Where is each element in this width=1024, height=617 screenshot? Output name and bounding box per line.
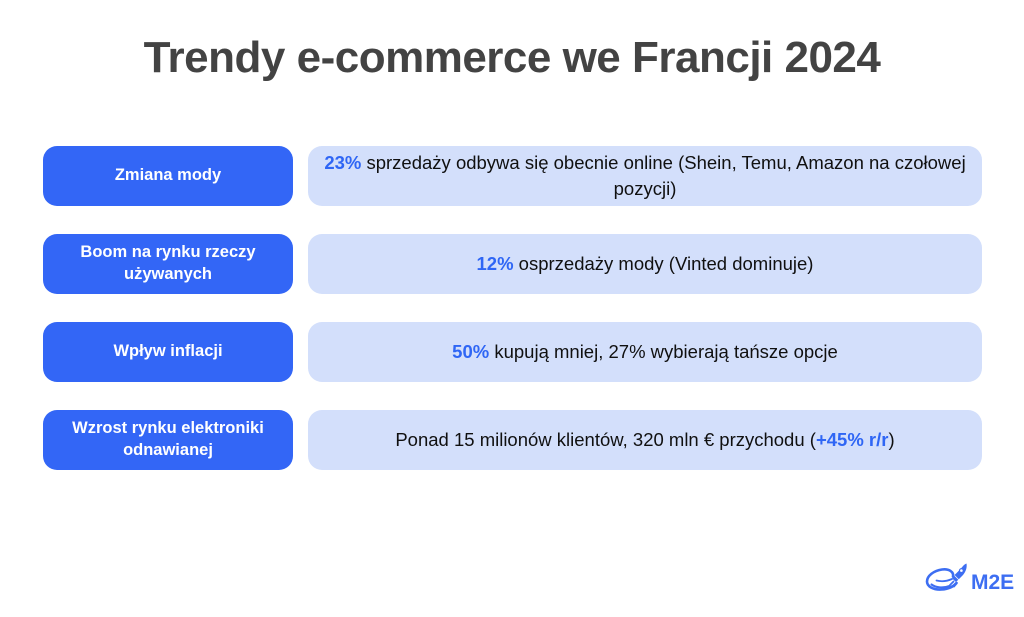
row-description-boom-rzeczy-uzywane: 12% osprzedaży mody (Vinted dominuje) [308, 234, 982, 294]
row-description-zmiana-mody: 23% sprzedaży odbywa się obecnie online … [308, 146, 982, 206]
infographic-canvas: Trendy e-commerce we Francji 2024 Zmiana… [0, 0, 1024, 617]
table-row: Zmiana mody 23% sprzedaży odbywa się obe… [43, 146, 982, 206]
row-highlight-value: 50% [452, 341, 489, 362]
table-row: Wzrost rynku elektroniki odnawianej Pona… [43, 410, 982, 470]
row-highlight-value: +45% r/r [816, 429, 889, 450]
brand-logo: M2E [923, 558, 1019, 606]
row-description-text: osprzedaży mody (Vinted dominuje) [514, 253, 814, 274]
table-row: Boom na rynku rzeczy używanych 12% osprz… [43, 234, 982, 294]
row-highlight-value: 12% [477, 253, 514, 274]
row-description-text: kupują mniej, 27% wybierają tańsze opcje [489, 341, 838, 362]
rocket-orbit-icon [923, 560, 973, 604]
trend-rows-list: Zmiana mody 23% sprzedaży odbywa się obe… [43, 146, 982, 470]
row-label-boom-rzeczy-uzywane: Boom na rynku rzeczy używanych [43, 234, 293, 294]
page-title: Trendy e-commerce we Francji 2024 [0, 34, 1024, 82]
table-row: Wpływ inflacji 50% kupują mniej, 27% wyb… [43, 322, 982, 382]
row-label-wplyw-inflacji: Wpływ inflacji [43, 322, 293, 382]
row-highlight-value: 23% [324, 152, 361, 173]
row-label-wzrost-elektroniki-odnawianej: Wzrost rynku elektroniki odnawianej [43, 410, 293, 470]
row-description-text: sprzedaży odbywa się obecnie online (She… [361, 152, 965, 199]
row-description-wplyw-inflacji: 50% kupują mniej, 27% wybierają tańsze o… [308, 322, 982, 382]
row-label-zmiana-mody: Zmiana mody [43, 146, 293, 206]
brand-logo-text: M2E [971, 572, 1014, 593]
row-description-wzrost-elektroniki-odnawianej: Ponad 15 milionów klientów, 320 mln € pr… [308, 410, 982, 470]
row-description-text: Ponad 15 milionów klientów, 320 mln € pr… [395, 429, 816, 450]
row-description-suffix: ) [888, 429, 894, 450]
